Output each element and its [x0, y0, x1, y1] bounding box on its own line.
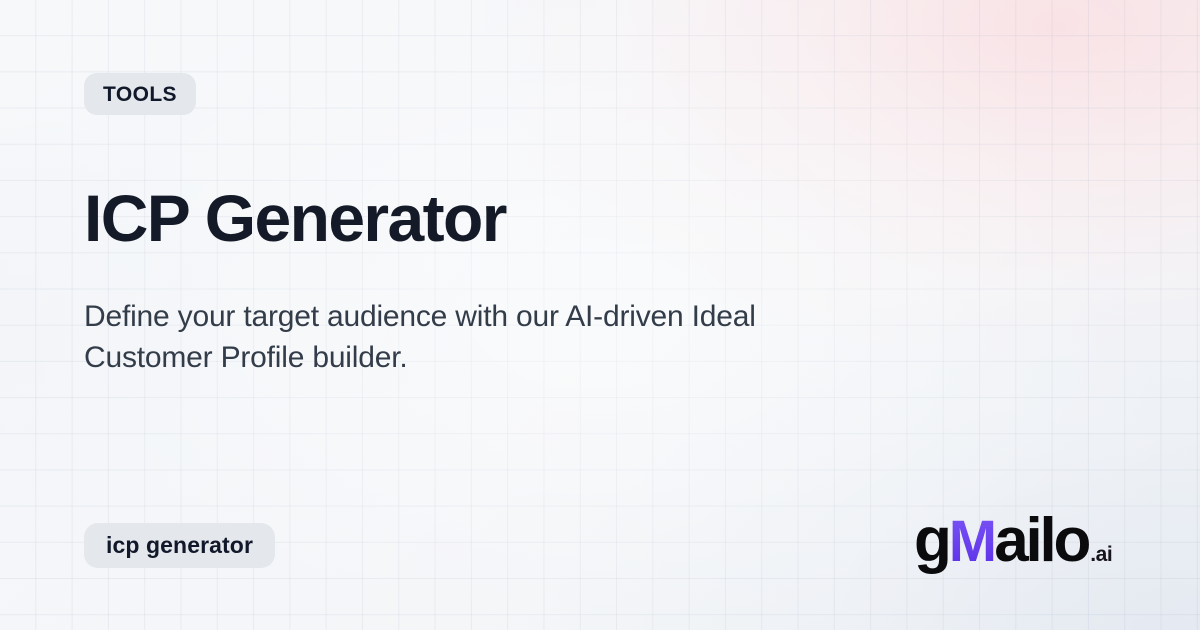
category-badge: TOOLS	[84, 73, 196, 115]
page-title: ICP Generator	[84, 185, 506, 251]
logo-letter-m-accent: M	[949, 511, 995, 573]
category-badge-label: TOOLS	[103, 84, 177, 105]
logo-tld: .ai	[1090, 544, 1112, 565]
slug-badge-label: icp generator	[106, 534, 253, 557]
social-card: TOOLS ICP Generator Define your target a…	[0, 0, 1200, 630]
slug-badge: icp generator	[84, 523, 275, 568]
logo-letter-g: g	[914, 510, 949, 572]
page-subtitle: Define your target audience with our AI-…	[84, 296, 804, 378]
gmailo-logo: gMailo .ai	[914, 510, 1112, 574]
card-content: TOOLS ICP Generator Define your target a…	[0, 0, 1200, 630]
logo-letters-ailo: ailo	[994, 510, 1088, 572]
logo-wordmark: gMailo	[914, 510, 1088, 573]
